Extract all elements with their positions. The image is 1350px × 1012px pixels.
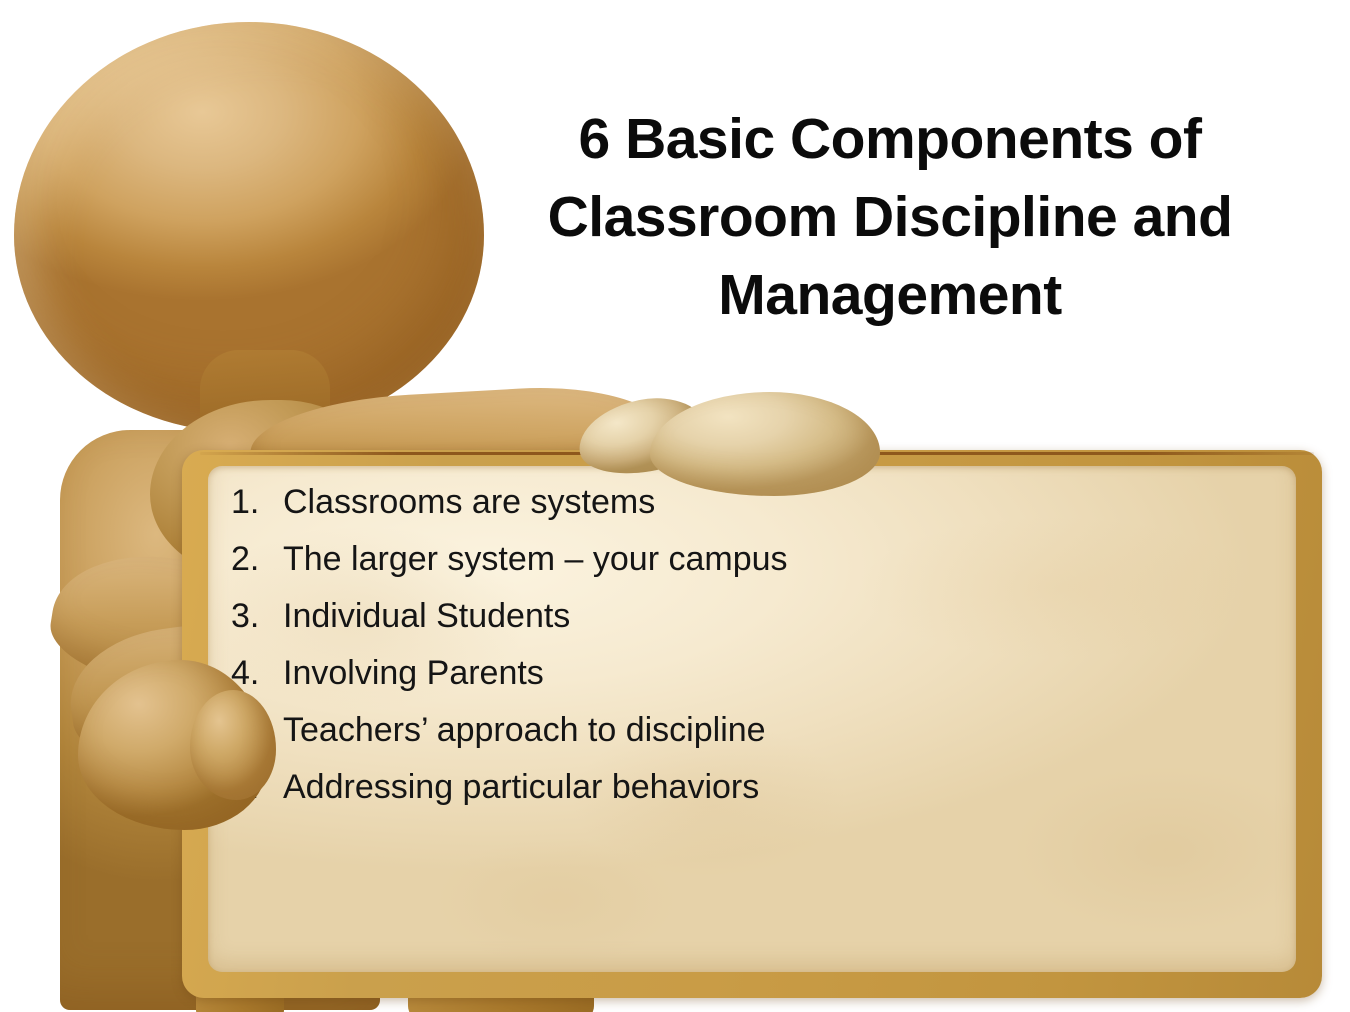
list-item: 4. Involving Parents (208, 645, 1296, 702)
sign-board-face: 1. Classrooms are systems 2. The larger … (208, 466, 1296, 972)
list-item: 3. Individual Students (208, 588, 1296, 645)
sign-board: 1. Classrooms are systems 2. The larger … (182, 450, 1322, 998)
page-title: 6 Basic Components of Classroom Discipli… (520, 100, 1260, 334)
list-item: 2. The larger system – your campus (208, 531, 1296, 588)
list-item-number: 3. (208, 588, 283, 645)
mascot-left-thumb (190, 690, 276, 800)
list-item-number: 1. (208, 474, 283, 531)
list-item-label: Addressing particular behaviors (283, 759, 1296, 816)
list-item-label: The larger system – your campus (283, 531, 1296, 588)
components-list: 1. Classrooms are systems 2. The larger … (208, 474, 1296, 816)
list-item-label: Teachers’ approach to discipline (283, 702, 1296, 759)
list-item-label: Involving Parents (283, 645, 1296, 702)
presentation-slide: 1. Classrooms are systems 2. The larger … (0, 0, 1350, 1012)
list-item-number: 2. (208, 531, 283, 588)
list-item: 5. Teachers’ approach to discipline (208, 702, 1296, 759)
list-item: 6. Addressing particular behaviors (208, 759, 1296, 816)
list-item-label: Individual Students (283, 588, 1296, 645)
